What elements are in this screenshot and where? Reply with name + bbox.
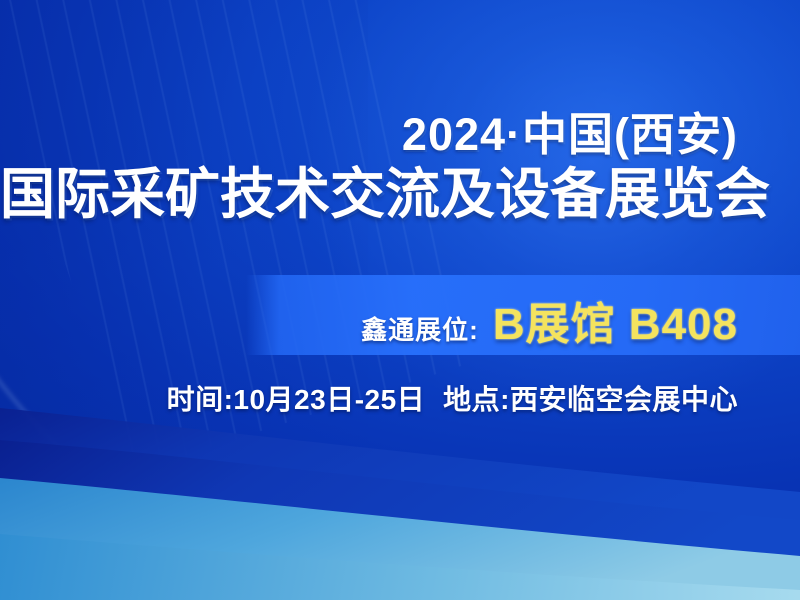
booth-label: 鑫通展位: [361,315,479,345]
event-title-line-2: 国际采矿技术交流及设备展览会 [0,167,738,222]
event-title-line-1: 2024·中国(西安) [0,112,738,157]
event-info-row: 时间:10月23日-25日地点:西安临空会展中心 [0,378,800,418]
bottom-wave-decoration [0,400,800,600]
booth-number: B展馆 B408 [493,300,738,349]
event-title-block: 2024·中国(西安) 国际采矿技术交流及设备展览会 [0,112,800,222]
event-date: 时间:10月23日-25日 [167,384,426,415]
exhibition-poster: 2024·中国(西安) 国际采矿技术交流及设备展览会 鑫通展位:B展馆 B408… [0,0,800,600]
event-venue: 地点:西安临空会展中心 [443,384,738,415]
booth-row: 鑫通展位:B展馆 B408 [0,288,800,352]
